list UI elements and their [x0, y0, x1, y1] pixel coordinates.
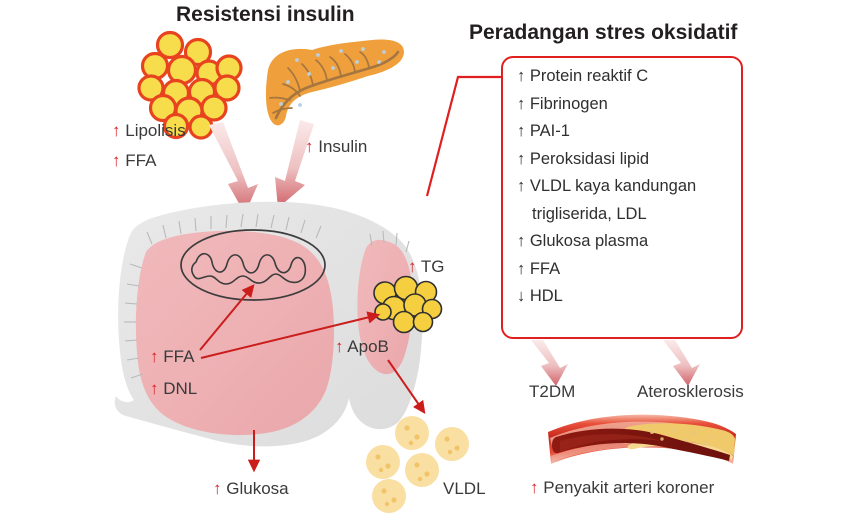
fact-item-text: Protein reaktif C [530, 67, 648, 85]
up-arrow-icon: ↑ [530, 478, 539, 497]
label-penyakit-arteri-koroner: ↑ Penyakit arteri koroner [530, 479, 714, 496]
up-arrow-icon: ↑ [112, 151, 121, 170]
label-dnl: ↑ DNL [150, 380, 197, 397]
label-glukosa: ↑ Glukosa [213, 480, 289, 497]
label-ffa-liver-text: FFA [163, 347, 194, 366]
up-arrow-icon: ↑ [517, 122, 525, 140]
up-arrow-icon: ↑ [517, 150, 525, 168]
fact-item-text: PAI-1 [530, 122, 570, 140]
factbox-connector-line [427, 77, 503, 196]
up-arrow-icon: ↑ [305, 137, 314, 156]
heading-insulin-resistance: Resistensi insulin [176, 4, 355, 25]
fact-item: ↑ PAI-1 [517, 122, 733, 141]
label-apob-text: ApoB [347, 337, 389, 356]
up-arrow-icon: ↑ [150, 379, 159, 398]
fact-item: ↓ HDL [517, 287, 733, 306]
label-lipolisis: ↑ Lipolisis [112, 122, 186, 139]
up-arrow-icon: ↑ [517, 177, 525, 195]
label-glukosa-text: Glukosa [226, 479, 288, 498]
label-dnl-text: DNL [163, 379, 197, 398]
fact-item-text: Peroksidasi lipid [530, 150, 649, 168]
up-arrow-icon: ↑ [517, 260, 525, 278]
fact-item-text: trigliserida, LDL [532, 205, 647, 223]
label-insulin: ↑ Insulin [305, 138, 367, 155]
arrow-box-to-t2dm [531, 340, 568, 386]
label-ffa-liver: ↑ FFA [150, 348, 194, 365]
fact-item-text: Fibrinogen [530, 95, 608, 113]
fact-item: ↑ Protein reaktif C [517, 67, 733, 86]
coronary-artery-plaque-cross-section [548, 415, 736, 464]
fact-item: ↑ FFA [517, 260, 733, 279]
oxidative-stress-fact-box: ↑ Protein reaktif C↑ Fibrinogen↑ PAI-1↑ … [501, 56, 743, 339]
arrow-box-to-atherosclerosis [663, 340, 700, 386]
label-penyakit-arteri-koroner-text: Penyakit arteri koroner [543, 478, 714, 497]
label-apob: ↑ ApoB [335, 338, 389, 355]
label-ffa-adipose: ↑ FFA [112, 152, 156, 169]
arrow-insulin-to-liver [275, 120, 314, 208]
heading-oxidative-stress-inflammation: Peradangan stres oksidatif [469, 22, 737, 43]
label-tg-text: TG [421, 257, 445, 276]
label-insulin-text: Insulin [318, 137, 367, 156]
diagram-canvas: Resistensi insulin Peradangan stres oksi… [0, 0, 844, 520]
label-ffa-adipose-text: FFA [125, 151, 156, 170]
arrow-lipolysis-to-liver [209, 122, 258, 214]
fact-item-text: VLDL kaya kandungan [530, 177, 696, 195]
fact-item: ↑ Glukosa plasma [517, 232, 733, 251]
up-arrow-icon: ↑ [335, 337, 344, 356]
label-vldl: VLDL [443, 480, 486, 497]
liver-hepatocyte [115, 202, 442, 447]
fact-item: ↑ VLDL kaya kandungan [517, 177, 733, 196]
fact-item: ↑ Fibrinogen [517, 95, 733, 114]
label-aterosklerosis: Aterosklerosis [637, 383, 744, 400]
fact-item: ↑ Peroksidasi lipid [517, 150, 733, 169]
fact-item-text: Glukosa plasma [530, 232, 648, 250]
fact-item-text: HDL [530, 287, 563, 305]
up-arrow-icon: ↑ [150, 347, 159, 366]
fact-list: ↑ Protein reaktif C↑ Fibrinogen↑ PAI-1↑ … [517, 67, 733, 315]
vldl-particles [366, 416, 469, 513]
up-arrow-icon: ↑ [517, 67, 525, 85]
up-arrow-icon: ↑ [517, 95, 525, 113]
label-tg: ↑ TG [408, 258, 445, 275]
pancreas-organ [266, 40, 404, 126]
up-arrow-icon: ↑ [112, 121, 121, 140]
down-arrow-icon: ↓ [517, 287, 525, 305]
label-t2dm: T2DM [529, 383, 575, 400]
fact-item: trigliserida, LDL [517, 205, 733, 224]
fact-item-text: FFA [530, 260, 560, 278]
up-arrow-icon: ↑ [517, 232, 525, 250]
up-arrow-icon: ↑ [408, 257, 417, 276]
up-arrow-icon: ↑ [213, 479, 222, 498]
label-lipolisis-text: Lipolisis [125, 121, 185, 140]
